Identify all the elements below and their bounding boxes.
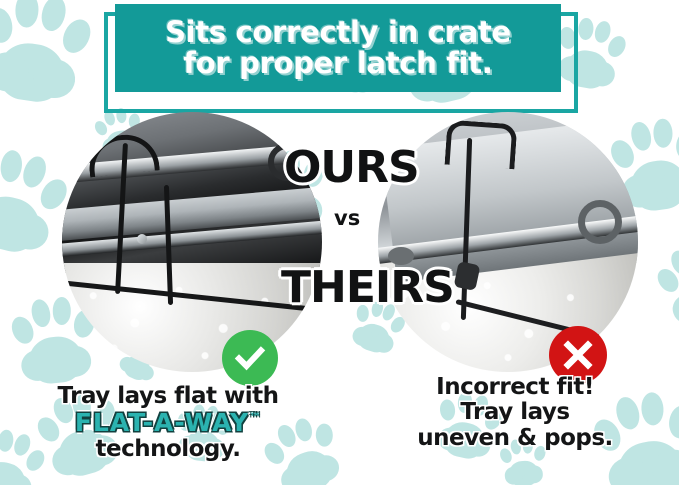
paw-toe (29, 297, 53, 328)
brand-flat-a-way: FLAT-A-WAY™ (3, 409, 333, 437)
caption-theirs-line-1: Incorrect fit! (350, 375, 679, 400)
photo-ours (62, 112, 322, 372)
caption-theirs-line-2: Tray lays (350, 400, 679, 425)
paw-toe (653, 118, 673, 148)
paw-print (0, 0, 94, 114)
infographic-canvas: Sits correctly in crate for proper latch… (0, 0, 679, 485)
paw-toe (38, 0, 69, 33)
caption-ours: Tray lays flat with FLAT-A-WAY™ technolo… (3, 384, 333, 462)
paw-toe (0, 149, 24, 183)
paw-print (649, 234, 679, 336)
trademark-symbol: ™ (249, 411, 261, 425)
brand-name: FLAT-A-WAY (75, 408, 249, 437)
paw-toe (58, 15, 96, 57)
paw-toe (578, 18, 594, 41)
header-banner: Sits correctly in crate for proper latch… (115, 4, 561, 92)
crate-wire-hook (444, 120, 517, 170)
caption-theirs: Incorrect fit! Tray lays uneven & pops. (350, 375, 679, 451)
banner-line-2: for proper latch fit. (183, 48, 492, 79)
caption-theirs-line-3: uneven & pops. (350, 426, 679, 451)
caption-ours-line-3: technology. (3, 437, 333, 462)
paw-pad-lobe (669, 291, 679, 327)
photo-ours-scene (62, 112, 322, 372)
caption-ours-line-1: Tray lays flat with (3, 384, 333, 409)
label-vs: vs (334, 206, 360, 230)
paw-toe (674, 129, 679, 161)
label-theirs: THEIRS (281, 262, 454, 313)
label-ours: OURS (284, 142, 419, 193)
banner-line-1: Sits correctly in crate (165, 17, 511, 48)
paw-toe (15, 0, 39, 28)
paw-toe (0, 6, 15, 44)
paw-pad-lobe (524, 465, 544, 483)
check-icon (222, 330, 278, 386)
